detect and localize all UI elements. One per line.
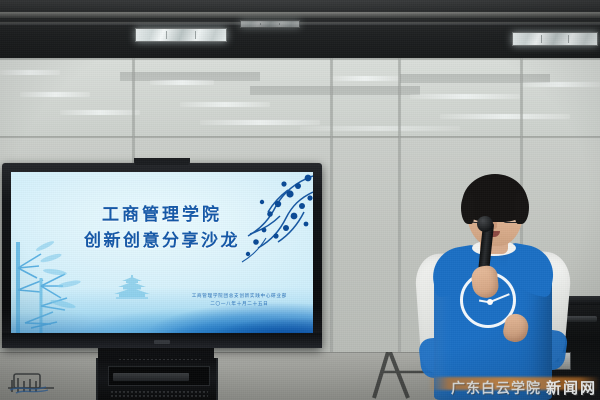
light-reflection bbox=[150, 80, 214, 85]
glass-mullion bbox=[330, 58, 333, 400]
presentation-display[interactable]: 工商管理学院 创新创意分享沙龙 工商管理学院团总支创新实践中心研业部 二〇一八年… bbox=[2, 163, 322, 348]
slide-title-line2: 创新创意分享沙龙 bbox=[11, 228, 313, 254]
cabinet-shelf bbox=[108, 366, 210, 386]
ceiling-deck bbox=[0, 14, 600, 60]
av-device bbox=[113, 373, 189, 381]
light-reflection bbox=[330, 76, 400, 81]
presentation-slide: 工商管理学院 创新创意分享沙龙 工商管理学院团总支创新实践中心研业部 二〇一八年… bbox=[11, 172, 313, 333]
tv-bottom-bezel bbox=[2, 333, 322, 348]
slide-title-line1: 工商管理学院 bbox=[11, 202, 313, 228]
ink-wash-mountain-dark bbox=[11, 307, 313, 333]
ceiling-light-fixture bbox=[512, 32, 598, 46]
light-reflection bbox=[440, 114, 570, 119]
ceiling-beam bbox=[0, 12, 600, 18]
slide-subtitle: 工商管理学院团总支创新实践中心研业部 二〇一八年十月二十五日 bbox=[192, 292, 287, 309]
glass-transom bbox=[0, 136, 600, 138]
light-reflection bbox=[410, 94, 520, 99]
light-reflection bbox=[60, 110, 140, 115]
photo-scene: 工商管理学院 创新创意分享沙龙 工商管理学院团总支创新实践中心研业部 二〇一八年… bbox=[0, 0, 600, 400]
slide-subtitle-line2: 二〇一八年十月二十五日 bbox=[192, 300, 287, 309]
av-cabinet bbox=[96, 358, 218, 400]
slide-subtitle-line1: 工商管理学院团总支创新实践中心研业部 bbox=[192, 292, 287, 301]
glass-upper-band bbox=[0, 58, 600, 136]
hair-right-side bbox=[515, 193, 529, 224]
glass-transom bbox=[0, 58, 600, 60]
tv-screen: 工商管理学院 创新创意分享沙龙 工商管理学院团总支创新实践中心研业部 二〇一八年… bbox=[11, 172, 313, 333]
photo-seal-stamp bbox=[2, 368, 64, 398]
ceiling-light-fixture bbox=[135, 28, 227, 42]
slide-title: 工商管理学院 创新创意分享沙龙 bbox=[11, 202, 313, 255]
cabinet-vent-grille bbox=[110, 390, 208, 399]
hair-left-side bbox=[461, 194, 474, 224]
tv-mount-notch bbox=[134, 158, 190, 165]
cabinet-top-vent bbox=[118, 358, 202, 361]
glass-mullion bbox=[398, 58, 401, 400]
light-reflection bbox=[0, 70, 60, 75]
ceiling-light-fixture bbox=[240, 20, 300, 28]
light-reflection bbox=[20, 92, 90, 97]
ceiling-reflection-slab bbox=[250, 86, 420, 95]
ceiling-beam-secondary bbox=[0, 22, 600, 25]
tv-brand-logo bbox=[154, 340, 170, 344]
clock-center-dot bbox=[487, 299, 493, 305]
speaker-figure bbox=[420, 168, 570, 400]
light-reflection bbox=[200, 120, 320, 125]
light-reflection bbox=[180, 102, 270, 107]
light-reflection bbox=[520, 82, 600, 87]
watermark-school-name: 广东白云学院 bbox=[451, 378, 541, 398]
watermark-group: 广东白云学院 新闻网 bbox=[451, 377, 597, 398]
watermark-site-name: 新闻网 bbox=[546, 377, 597, 398]
light-reflection bbox=[300, 126, 460, 131]
